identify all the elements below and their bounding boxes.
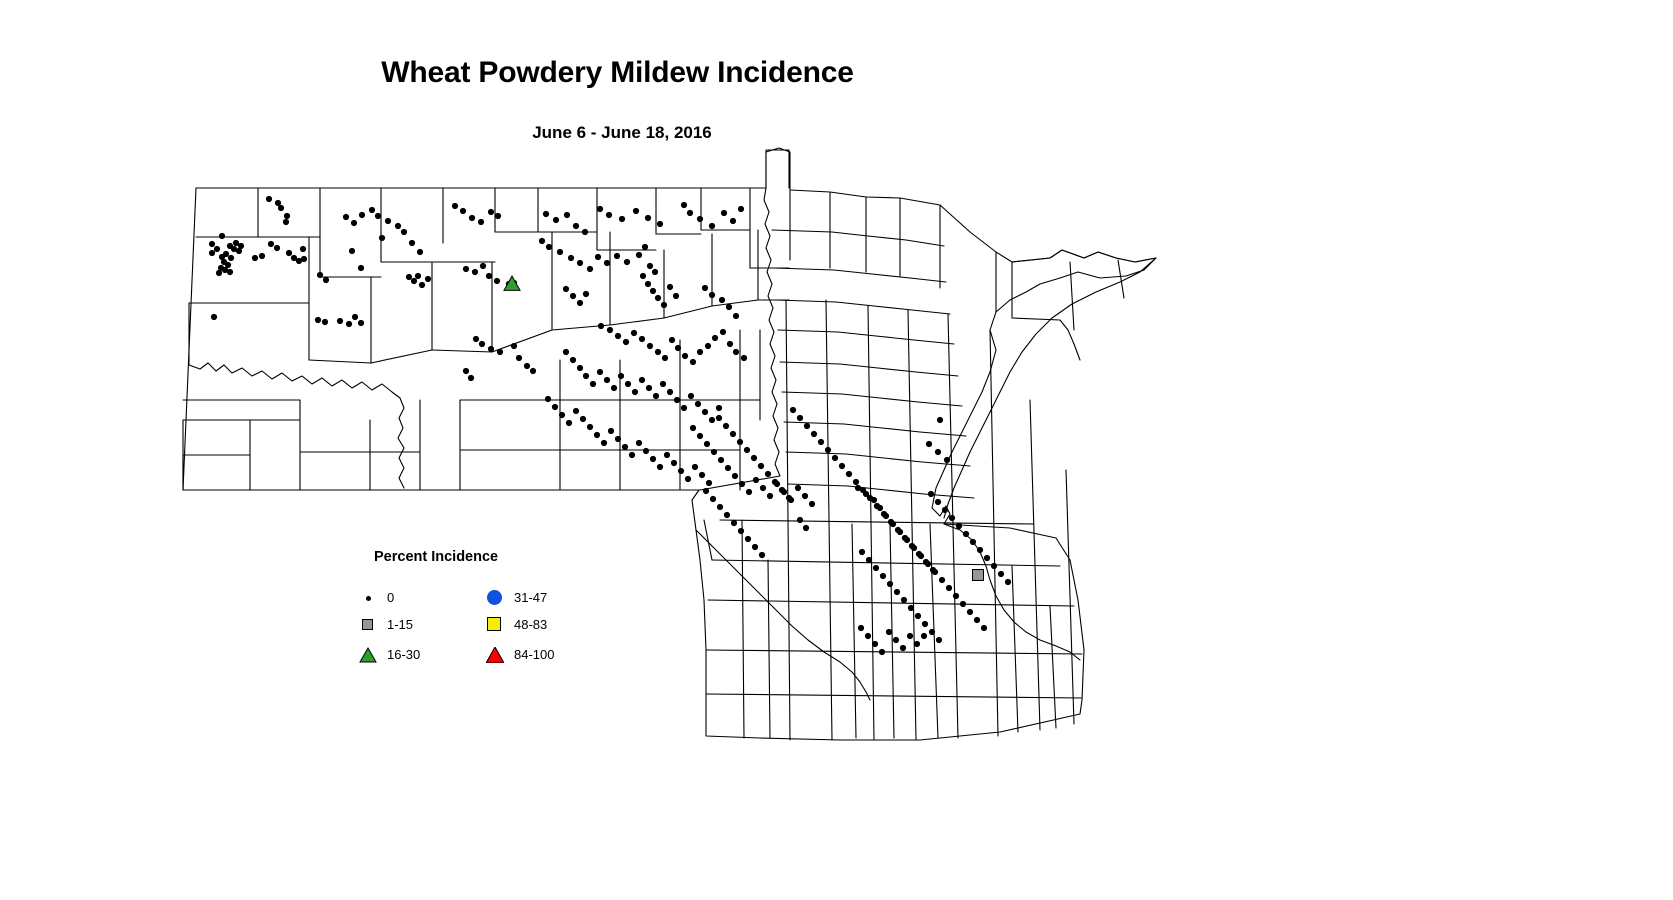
incidence-point-0: [703, 488, 709, 494]
incidence-point-0: [730, 431, 736, 437]
incidence-point-0: [301, 256, 307, 262]
incidence-point-0: [358, 320, 364, 326]
incidence-point-0: [745, 536, 751, 542]
incidence-point-0: [825, 447, 831, 453]
incidence-point-0: [681, 202, 687, 208]
incidence-point-0: [723, 423, 729, 429]
incidence-point-0: [219, 233, 225, 239]
incidence-point-0: [981, 625, 987, 631]
incidence-point-0: [887, 581, 893, 587]
incidence-point-0: [647, 343, 653, 349]
incidence-point-0: [268, 241, 274, 247]
incidence-point-0: [865, 633, 871, 639]
incidence-point-0: [901, 597, 907, 603]
incidence-point-0: [660, 381, 666, 387]
incidence-point-0: [804, 423, 810, 429]
incidence-point-0: [697, 349, 703, 355]
incidence-point-0: [619, 216, 625, 222]
incidence-point-0: [566, 420, 572, 426]
incidence-point-0: [577, 260, 583, 266]
incidence-point-0: [699, 472, 705, 478]
incidence-point-0: [480, 263, 486, 269]
incidence-point-0: [401, 229, 407, 235]
incidence-point-0: [233, 240, 239, 246]
incidence-point-0: [587, 424, 593, 430]
incidence-point-0: [877, 505, 883, 511]
incidence-point-0: [349, 248, 355, 254]
incidence-point-0: [622, 444, 628, 450]
incidence-point-0: [553, 217, 559, 223]
incidence-point-0: [317, 272, 323, 278]
incidence-point-0: [629, 452, 635, 458]
incidence-point-0: [573, 223, 579, 229]
incidence-point-0: [977, 547, 983, 553]
incidence-point-0: [252, 255, 258, 261]
legend-label-31-47: 31-47: [514, 590, 547, 605]
incidence-point-0: [702, 285, 708, 291]
incidence-point-0: [786, 495, 792, 501]
map-svg: [0, 0, 1673, 900]
incidence-point-0: [904, 537, 910, 543]
incidence-point-0: [283, 219, 289, 225]
incidence-point-0: [546, 244, 552, 250]
incidence-point-0: [214, 246, 220, 252]
incidence-point-0: [667, 284, 673, 290]
incidence-point-0: [673, 293, 679, 299]
incidence-point-0: [640, 273, 646, 279]
incidence-point-0: [859, 549, 865, 555]
incidence-point-0: [472, 269, 478, 275]
incidence-point-0: [709, 417, 715, 423]
incidence-point-0: [725, 465, 731, 471]
incidence-point-0: [970, 539, 976, 545]
incidence-point-0: [690, 425, 696, 431]
incidence-point-0: [733, 313, 739, 319]
incidence-point-1-15: [973, 570, 984, 581]
incidence-point-0: [932, 569, 938, 575]
incidence-point-0: [739, 481, 745, 487]
incidence-point-0: [953, 593, 959, 599]
incidence-point-0: [944, 457, 950, 463]
incidence-point-0: [419, 282, 425, 288]
incidence-point-0: [738, 206, 744, 212]
incidence-point-0: [478, 219, 484, 225]
incidence-point-0: [452, 203, 458, 209]
incidence-point-0: [758, 463, 764, 469]
legend-label-1-15: 1-15: [387, 617, 413, 632]
incidence-point-0: [625, 381, 631, 387]
incidence-point-0: [315, 317, 321, 323]
incidence-point-0: [606, 212, 612, 218]
incidence-point-0: [486, 273, 492, 279]
incidence-point-0: [488, 346, 494, 352]
incidence-point-0: [926, 441, 932, 447]
incidence-point-0: [636, 252, 642, 258]
incidence-point-0: [936, 637, 942, 643]
incidence-point-0: [741, 355, 747, 361]
incidence-point-0: [727, 341, 733, 347]
incidence-point-0: [611, 385, 617, 391]
incidence-point-0: [415, 273, 421, 279]
incidence-point-0: [639, 336, 645, 342]
incidence-point-0: [967, 609, 973, 615]
legend-title: Percent Incidence: [374, 549, 498, 565]
incidence-point-0: [608, 428, 614, 434]
incidence-point-0: [406, 274, 412, 280]
incidence-point-0: [681, 405, 687, 411]
incidence-point-0: [650, 288, 656, 294]
incidence-point-0: [974, 617, 980, 623]
incidence-point-0: [790, 407, 796, 413]
incidence-point-0: [632, 389, 638, 395]
map-canvas: Wheat Powdery Mildew Incidence June 6 - …: [0, 0, 1673, 900]
incidence-point-0: [463, 266, 469, 272]
incidence-point-0: [284, 213, 290, 219]
incidence-point-0: [915, 613, 921, 619]
incidence-point-0: [570, 357, 576, 363]
incidence-point-0: [733, 349, 739, 355]
incidence-point-0: [760, 485, 766, 491]
incidence-point-0: [911, 545, 917, 551]
incidence-point-0: [702, 409, 708, 415]
incidence-point-0: [577, 300, 583, 306]
incidence-point-0: [494, 278, 500, 284]
incidence-point-0: [731, 520, 737, 526]
incidence-point-0: [570, 293, 576, 299]
incidence-point-0: [469, 215, 475, 221]
incidence-point-0: [615, 436, 621, 442]
incidence-point-0: [963, 531, 969, 537]
incidence-point-0: [516, 355, 522, 361]
incidence-point-0: [709, 223, 715, 229]
incidence-point-0: [633, 208, 639, 214]
incidence-point-0: [797, 415, 803, 421]
legend-label-84-100: 84-100: [514, 647, 554, 662]
incidence-point-0: [960, 601, 966, 607]
incidence-point-0: [460, 208, 466, 214]
incidence-point-0: [639, 377, 645, 383]
incidence-point-0: [991, 563, 997, 569]
incidence-point-0: [984, 555, 990, 561]
incidence-point-0: [752, 544, 758, 550]
incidence-point-0: [563, 286, 569, 292]
incidence-point-0: [883, 513, 889, 519]
incidence-point-0: [604, 377, 610, 383]
incidence-point-0: [375, 213, 381, 219]
incidence-point-0: [358, 265, 364, 271]
incidence-point-0: [623, 339, 629, 345]
incidence-point-0: [855, 485, 861, 491]
incidence-point-0: [468, 375, 474, 381]
incidence-point-0: [379, 235, 385, 241]
incidence-point-0: [624, 259, 630, 265]
incidence-point-0: [530, 368, 536, 374]
incidence-point-0: [645, 215, 651, 221]
incidence-point-0: [568, 255, 574, 261]
incidence-point-0: [717, 504, 723, 510]
incidence-point-0: [675, 345, 681, 351]
incidence-point-0: [720, 329, 726, 335]
incidence-point-0: [710, 496, 716, 502]
incidence-point-0: [266, 196, 272, 202]
incidence-point-0: [463, 368, 469, 374]
incidence-point-0: [597, 206, 603, 212]
blue-circle-icon: [485, 587, 507, 609]
incidence-point-0: [730, 218, 736, 224]
incidence-point-0: [597, 369, 603, 375]
incidence-point-0: [716, 405, 722, 411]
incidence-point-0: [928, 491, 934, 497]
incidence-point-0: [697, 216, 703, 222]
incidence-point-0: [765, 471, 771, 477]
incidence-point-0: [473, 336, 479, 342]
incidence-point-0: [795, 485, 801, 491]
incidence-point-0: [479, 341, 485, 347]
incidence-point-0: [751, 455, 757, 461]
incidence-point-0: [772, 479, 778, 485]
small-black-dot-icon: [358, 587, 380, 609]
incidence-point-0: [543, 211, 549, 217]
incidence-point-0: [557, 249, 563, 255]
incidence-point-0: [802, 493, 808, 499]
incidence-point-0: [690, 359, 696, 365]
incidence-point-0: [871, 497, 877, 503]
incidence-point-0: [583, 291, 589, 297]
incidence-point-0: [552, 404, 558, 410]
incidence-point-0: [343, 214, 349, 220]
incidence-point-0: [809, 501, 815, 507]
incidence-point-0: [922, 621, 928, 627]
incidence-point-0: [942, 507, 948, 513]
incidence-point-0: [921, 633, 927, 639]
incidence-point-0: [712, 335, 718, 341]
incidence-point-0: [939, 577, 945, 583]
incidence-point-0: [645, 281, 651, 287]
incidence-point-0: [705, 343, 711, 349]
incidence-point-0: [573, 408, 579, 414]
incidence-point-0: [811, 431, 817, 437]
incidence-point-0: [337, 318, 343, 324]
incidence-point-0: [753, 477, 759, 483]
incidence-point-0: [300, 246, 306, 252]
incidence-point-0: [818, 439, 824, 445]
incidence-point-0: [709, 292, 715, 298]
incidence-point-0: [564, 212, 570, 218]
incidence-point-0: [853, 479, 859, 485]
incidence-point-0: [643, 448, 649, 454]
incidence-point-0: [369, 207, 375, 213]
incidence-point-0: [577, 365, 583, 371]
incidence-point-0: [918, 553, 924, 559]
incidence-point-0: [863, 491, 869, 497]
incidence-point-0: [646, 385, 652, 391]
incidence-point-0: [655, 349, 661, 355]
green-triangle-icon: [358, 644, 380, 666]
incidence-point-0: [278, 205, 284, 211]
incidence-point-0: [587, 266, 593, 272]
incidence-point-0: [687, 210, 693, 216]
incidence-point-0: [879, 649, 885, 655]
incidence-point-0: [662, 355, 668, 361]
incidence-point-0: [671, 460, 677, 466]
incidence-point-0: [647, 263, 653, 269]
incidence-point-0: [583, 373, 589, 379]
incidence-point-0: [685, 476, 691, 482]
incidence-point-0: [650, 456, 656, 462]
incidence-point-0: [582, 229, 588, 235]
incidence-point-0: [704, 441, 710, 447]
incidence-point-0: [595, 254, 601, 260]
incidence-point-0: [615, 333, 621, 339]
incidence-point-0: [259, 253, 265, 259]
legend: Percent Incidence 0 1-15 16-30 31-47 48-…: [374, 549, 604, 674]
incidence-point-0: [601, 440, 607, 446]
incidence-point-0: [209, 241, 215, 247]
incidence-point-0: [893, 637, 899, 643]
incidence-point-0: [495, 213, 501, 219]
legend-label-0: 0: [387, 590, 394, 605]
incidence-point-0: [607, 327, 613, 333]
incidence-point-0: [652, 269, 658, 275]
incidence-point-0: [721, 210, 727, 216]
incidence-point-0: [594, 432, 600, 438]
incidence-point-0: [667, 389, 673, 395]
incidence-point-0: [409, 240, 415, 246]
incidence-point-0: [539, 238, 545, 244]
incidence-point-0: [227, 269, 233, 275]
incidence-point-0: [669, 337, 675, 343]
incidence-point-0: [711, 449, 717, 455]
incidence-point-0: [598, 323, 604, 329]
incidence-point-0: [935, 449, 941, 455]
incidence-point-0: [631, 330, 637, 336]
incidence-point-0: [411, 278, 417, 284]
red-triangle-icon: [485, 644, 507, 666]
incidence-point-0: [946, 585, 952, 591]
incidence-point-0: [846, 471, 852, 477]
incidence-point-0: [636, 440, 642, 446]
map-figure: [0, 0, 1673, 900]
incidence-point-0: [797, 517, 803, 523]
incidence-point-0: [655, 295, 661, 301]
incidence-point-0: [323, 277, 329, 283]
incidence-point-0: [732, 473, 738, 479]
incidence-point-0: [559, 412, 565, 418]
incidence-point-0: [744, 447, 750, 453]
incidence-point-0: [738, 528, 744, 534]
incidence-point-0: [890, 521, 896, 527]
incidence-point-0: [929, 629, 935, 635]
incidence-point-0: [678, 468, 684, 474]
incidence-point-0: [286, 250, 292, 256]
incidence-point-0: [897, 529, 903, 535]
incidence-point-0: [900, 645, 906, 651]
incidence-point-0: [228, 255, 234, 261]
incidence-point-0: [692, 464, 698, 470]
incidence-point-0: [688, 393, 694, 399]
incidence-point-0: [894, 589, 900, 595]
incidence-point-0: [642, 244, 648, 250]
incidence-point-0: [590, 381, 596, 387]
incidence-point-0: [767, 493, 773, 499]
gray-square-icon: [358, 614, 380, 636]
incidence-point-0: [359, 212, 365, 218]
incidence-point-0: [737, 439, 743, 445]
incidence-point-0: [716, 415, 722, 421]
incidence-point-0: [385, 218, 391, 224]
incidence-point-0: [872, 641, 878, 647]
incidence-point-0: [858, 625, 864, 631]
incidence-point-0: [907, 633, 913, 639]
incidence-point-0: [718, 457, 724, 463]
incidence-point-0: [211, 314, 217, 320]
county-boundaries: [183, 148, 1156, 740]
incidence-point-0: [937, 417, 943, 423]
incidence-point-0: [998, 571, 1004, 577]
incidence-point-0: [425, 276, 431, 282]
incidence-point-0: [949, 515, 955, 521]
incidence-point-0: [346, 321, 352, 327]
incidence-point-0: [657, 464, 663, 470]
yellow-square-icon: [485, 614, 507, 636]
incidence-point-0: [925, 561, 931, 567]
incidence-point-0: [719, 297, 725, 303]
incidence-point-0: [839, 463, 845, 469]
incidence-point-0: [511, 343, 517, 349]
incidence-point-0: [351, 220, 357, 226]
incidence-point-0: [417, 249, 423, 255]
incidence-point-0: [682, 353, 688, 359]
incidence-point-0: [695, 401, 701, 407]
incidence-point-0: [886, 629, 892, 635]
incidence-point-0: [604, 260, 610, 266]
incidence-point-0: [724, 512, 730, 518]
incidence-point-0: [706, 480, 712, 486]
incidence-point-0: [618, 373, 624, 379]
incidence-point-0: [956, 523, 962, 529]
incidence-point-0: [664, 452, 670, 458]
legend-label-48-83: 48-83: [514, 617, 547, 632]
incidence-point-0: [545, 396, 551, 402]
incidence-point-0: [908, 605, 914, 611]
incidence-point-0: [880, 573, 886, 579]
incidence-point-0: [935, 499, 941, 505]
incidence-point-0: [1005, 579, 1011, 585]
incidence-point-0: [661, 302, 667, 308]
incidence-point-0: [488, 209, 494, 215]
incidence-point-0: [779, 487, 785, 493]
incidence-point-0: [759, 552, 765, 558]
incidence-point-0: [914, 641, 920, 647]
incidence-point-0: [352, 314, 358, 320]
incidence-point-0: [697, 433, 703, 439]
incidence-point-0: [873, 565, 879, 571]
incidence-point-0: [866, 557, 872, 563]
incidence-point-0: [209, 250, 215, 256]
incidence-point-0: [674, 397, 680, 403]
incidence-point-0: [524, 363, 530, 369]
incidence-point-0: [497, 349, 503, 355]
incidence-point-0: [322, 319, 328, 325]
legend-label-16-30: 16-30: [387, 647, 420, 662]
incidence-point-0: [614, 253, 620, 259]
incidence-point-0: [726, 304, 732, 310]
incidence-point-0: [563, 349, 569, 355]
incidence-point-0: [746, 489, 752, 495]
incidence-point-0: [580, 416, 586, 422]
incidence-point-0: [274, 245, 280, 251]
incidence-point-0: [803, 525, 809, 531]
